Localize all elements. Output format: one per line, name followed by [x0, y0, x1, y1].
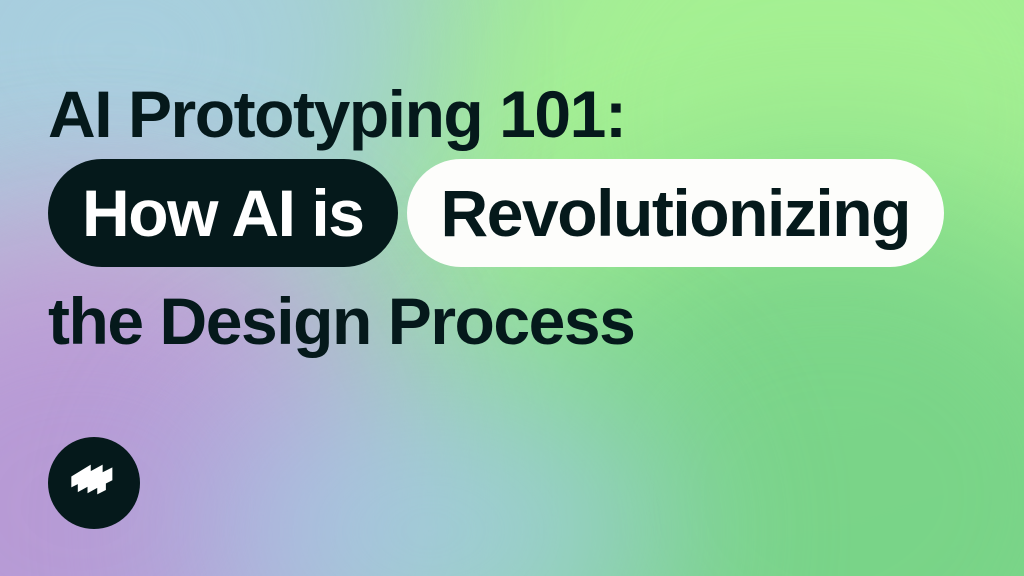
headline-line-1: AI Prototyping 101: — [48, 76, 998, 152]
headline-pill-dark: How AI is — [48, 159, 398, 267]
headline-pill-light: Revolutionizing — [407, 159, 945, 267]
flag-zigzag-logo-icon — [67, 456, 121, 510]
logo-badge — [48, 437, 140, 529]
headline: AI Prototyping 101: How AI is Revolution… — [48, 76, 998, 364]
headline-line-2: How AI is Revolutionizing — [48, 154, 998, 272]
headline-line-3: the Design Process — [48, 278, 998, 364]
cover-card: AI Prototyping 101: How AI is Revolution… — [0, 0, 1024, 576]
cover-content: AI Prototyping 101: How AI is Revolution… — [0, 0, 1024, 576]
